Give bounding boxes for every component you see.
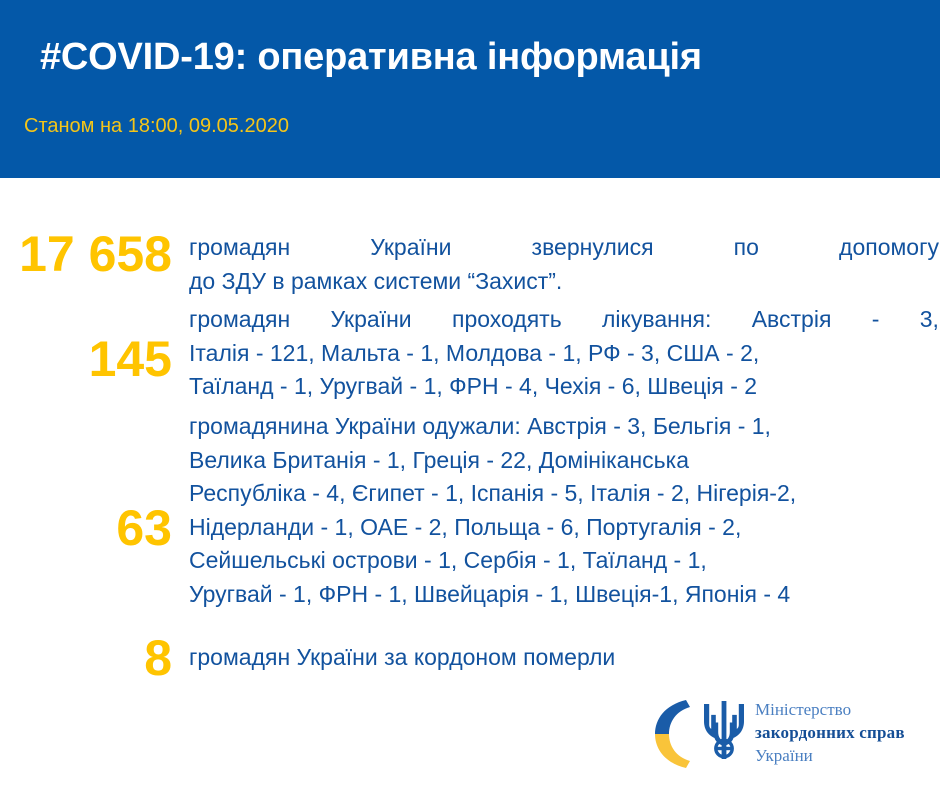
stat-number-died: 8 bbox=[0, 630, 172, 686]
logo-line-3: України bbox=[755, 744, 935, 767]
stat-text-recovered: громадянина України одужали: Австрія - 3… bbox=[189, 410, 939, 611]
stat-text-applied: громадянУкраїнизвернулисяподопомогу до З… bbox=[189, 231, 939, 298]
covid-info-poster: #COVID-19: оперативна інформація Станом … bbox=[0, 0, 940, 788]
header-timestamp: Станом на 18:00, 09.05.2020 bbox=[24, 113, 289, 139]
w: Австрія bbox=[752, 303, 832, 337]
stat-line: Сейшельські острови - 1, Сербія - 1, Таї… bbox=[189, 544, 939, 578]
w: допомогу bbox=[839, 231, 939, 265]
w: звернулися bbox=[532, 231, 654, 265]
stat-line: Таїланд - 1, Уругвай - 1, ФРН - 4, Чехія… bbox=[189, 370, 939, 404]
ukrainian-flag-arc-icon bbox=[645, 695, 693, 773]
stat-line: Уругвай - 1, ФРН - 1, Швейцарія - 1, Шве… bbox=[189, 578, 939, 612]
stat-line: громадянУкраїнизвернулисяподопомогу bbox=[189, 231, 939, 265]
logo-line-2: закордонних справ bbox=[755, 721, 935, 744]
poster-header: #COVID-19: оперативна інформація Станом … bbox=[0, 0, 940, 178]
ministry-logo: Міністерство закордонних справ України bbox=[645, 692, 935, 778]
w: громадян bbox=[189, 231, 290, 265]
stat-line: Італія - 121, Мальта - 1, Молдова - 1, Р… bbox=[189, 337, 939, 371]
stat-line: громадян України за кордоном померли bbox=[189, 641, 939, 675]
logo-line-1: Міністерство bbox=[755, 698, 935, 721]
stat-line: Республіка - 4, Єгипет - 1, Іспанія - 5,… bbox=[189, 477, 939, 511]
w: лікування: bbox=[602, 303, 711, 337]
stat-number-applied: 17 658 bbox=[0, 226, 172, 282]
w: громадян bbox=[189, 303, 290, 337]
stat-line: громадянина України одужали: Австрія - 3… bbox=[189, 410, 939, 444]
w: 3, bbox=[920, 303, 939, 337]
ukraine-trident-emblem-icon bbox=[700, 698, 748, 768]
stat-text-treatment: громадянУкраїнипроходятьлікування:Австрі… bbox=[189, 303, 939, 404]
stat-line: до ЗДУ в рамках системи “Захист”. bbox=[189, 265, 939, 299]
w: проходять bbox=[452, 303, 562, 337]
stat-line: Велика Британія - 1, Греція - 22, Доміні… bbox=[189, 444, 939, 478]
stat-line: Нідерланди - 1, ОАЕ - 2, Польща - 6, Пор… bbox=[189, 511, 939, 545]
stat-number-recovered: 63 bbox=[0, 500, 172, 556]
w: по bbox=[734, 231, 759, 265]
w: України bbox=[330, 303, 411, 337]
stat-line: громадянУкраїнипроходятьлікування:Австрі… bbox=[189, 303, 939, 337]
stat-text-died: громадян України за кордоном померли bbox=[189, 641, 939, 675]
stat-number-treatment: 145 bbox=[0, 331, 172, 387]
ministry-logo-text: Міністерство закордонних справ України bbox=[755, 698, 935, 767]
page-title: #COVID-19: оперативна інформація bbox=[40, 34, 908, 80]
w: України bbox=[370, 231, 451, 265]
w: - bbox=[872, 303, 880, 337]
